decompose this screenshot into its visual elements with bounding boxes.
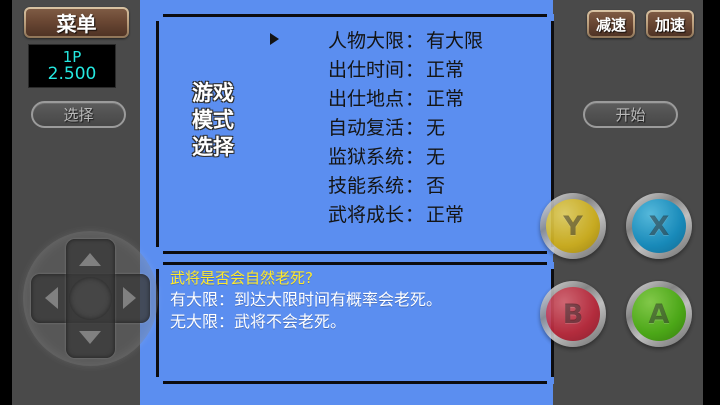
- dpad-right-arrow-icon[interactable]: [123, 287, 136, 309]
- option-row-6[interactable]: 武将成长 ： 正常: [262, 199, 542, 228]
- gamepad-button-b-label: B: [546, 287, 600, 341]
- dpad-left-arrow-icon[interactable]: [45, 287, 58, 309]
- option-row-1[interactable]: 出仕时间 ： 正常: [262, 54, 542, 83]
- speed-up-button[interactable]: 加速: [646, 10, 694, 38]
- option-label: 出仕时间: [262, 55, 404, 82]
- option-value[interactable]: 否: [426, 171, 445, 198]
- gamepad-button-y-label: Y: [546, 199, 600, 253]
- gamepad-button-y[interactable]: Y: [540, 193, 606, 259]
- score-display: 1P 2.500: [28, 44, 116, 88]
- page-title-line-3: 选择: [178, 134, 248, 161]
- option-row-5[interactable]: 技能系统 ： 否: [262, 170, 542, 199]
- letterbox-left: [0, 0, 12, 405]
- gamepad-button-a[interactable]: A: [626, 281, 692, 347]
- letterbox-right: [703, 0, 720, 405]
- option-label: 武将成长: [262, 200, 404, 227]
- dpad-up-arrow-icon[interactable]: [79, 253, 101, 266]
- gamepad-button-x-label: X: [632, 199, 686, 253]
- option-description: 武将是否会自然老死? 有大限：到达大限时间有概率会老死。 无大限：武将不会老死。: [170, 268, 545, 333]
- option-label: 自动复活: [262, 113, 404, 140]
- start-button[interactable]: 开始: [583, 101, 678, 128]
- gamepad-button-x[interactable]: X: [626, 193, 692, 259]
- dpad-down-arrow-icon[interactable]: [79, 331, 101, 344]
- option-value[interactable]: 无: [426, 113, 445, 140]
- option-colon: ：: [404, 200, 426, 227]
- option-label: 出仕地点: [262, 84, 404, 111]
- game-screen: 游戏 模式 选择 人物大限 ： 有大限 出仕时间 ： 正常 出仕地点 ： 正常 …: [0, 0, 720, 405]
- option-colon: ：: [404, 26, 426, 53]
- speed-up-button-label: 加速: [648, 12, 692, 36]
- menu-button[interactable]: 菜单: [24, 7, 129, 38]
- description-question: 武将是否会自然老死?: [170, 268, 545, 289]
- option-value[interactable]: 正常: [426, 84, 464, 111]
- option-value[interactable]: 有大限: [426, 26, 483, 53]
- dpad-hub: [69, 277, 112, 320]
- option-label: 人物大限: [262, 26, 404, 53]
- page-title: 游戏 模式 选择: [178, 80, 248, 161]
- score-value: 2.500: [48, 65, 97, 84]
- dpad[interactable]: [23, 231, 158, 366]
- option-label: 技能系统: [262, 171, 404, 198]
- selection-cursor-icon: [270, 33, 279, 45]
- option-colon: ：: [404, 142, 426, 169]
- option-colon: ：: [404, 171, 426, 198]
- option-row-2[interactable]: 出仕地点 ： 正常: [262, 83, 542, 112]
- option-value[interactable]: 无: [426, 142, 445, 169]
- option-colon: ：: [404, 113, 426, 140]
- option-value[interactable]: 正常: [426, 55, 464, 82]
- page-title-line-2: 模式: [178, 107, 248, 134]
- slow-down-button-label: 减速: [589, 12, 633, 36]
- option-colon: ：: [404, 84, 426, 111]
- option-colon: ：: [404, 55, 426, 82]
- page-title-line-1: 游戏: [178, 80, 248, 107]
- option-label: 监狱系统: [262, 142, 404, 169]
- option-value[interactable]: 正常: [426, 200, 464, 227]
- gamepad-button-b[interactable]: B: [540, 281, 606, 347]
- option-row-4[interactable]: 监狱系统 ： 无: [262, 141, 542, 170]
- menu-button-label: 菜单: [26, 9, 127, 36]
- option-row-0[interactable]: 人物大限 ： 有大限: [262, 25, 542, 54]
- options-list: 人物大限 ： 有大限 出仕时间 ： 正常 出仕地点 ： 正常 自动复活 ： 无 …: [262, 25, 542, 228]
- player-label: 1P: [63, 49, 82, 65]
- description-line-1: 有大限：到达大限时间有概率会老死。: [170, 289, 545, 311]
- slow-down-button[interactable]: 减速: [587, 10, 635, 38]
- select-button[interactable]: 选择: [31, 101, 126, 128]
- description-line-2: 无大限：武将不会老死。: [170, 311, 545, 333]
- gamepad-button-a-label: A: [632, 287, 686, 341]
- option-row-3[interactable]: 自动复活 ： 无: [262, 112, 542, 141]
